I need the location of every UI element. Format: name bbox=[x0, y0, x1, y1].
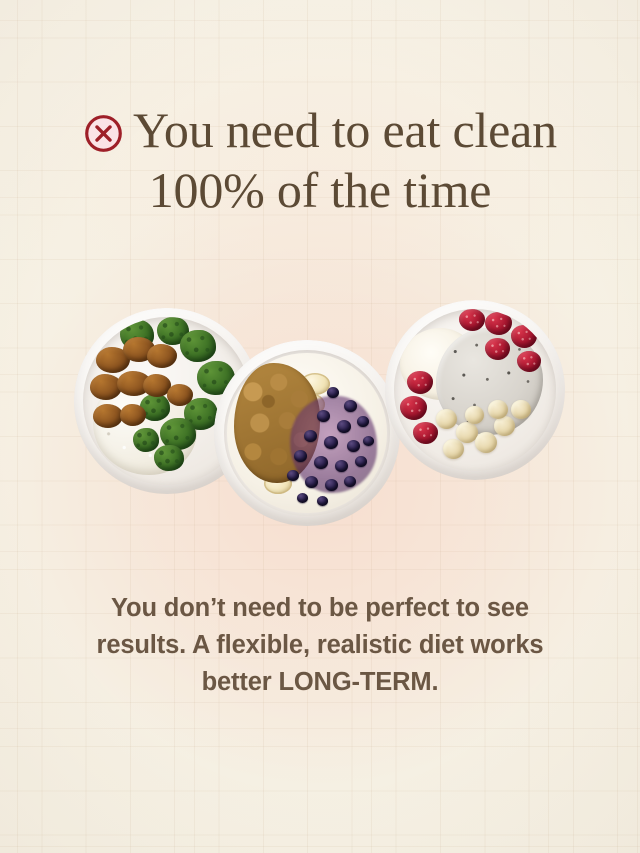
banana-slice bbox=[294, 393, 325, 416]
chicken-piece bbox=[120, 404, 146, 426]
blueberry bbox=[355, 456, 367, 467]
blueberry bbox=[327, 387, 339, 398]
chicken-piece bbox=[93, 404, 123, 428]
yogurt-base bbox=[227, 353, 386, 512]
bowl-interior bbox=[394, 309, 556, 471]
blueberry bbox=[363, 436, 374, 446]
broccoli-floret bbox=[184, 398, 218, 430]
broccoli-floret bbox=[180, 330, 216, 362]
chia-pudding bbox=[436, 328, 543, 435]
blueberry bbox=[344, 476, 356, 487]
body-copy-block: You don’t need to be perfect to see resu… bbox=[56, 590, 584, 701]
blueberry bbox=[305, 476, 318, 488]
macadamia-nut bbox=[511, 400, 531, 419]
strawberry bbox=[400, 396, 427, 420]
body-line-3: better LONG-TERM. bbox=[56, 664, 584, 701]
blueberry bbox=[297, 493, 308, 503]
headline-block: You need to eat clean 100% of the time bbox=[0, 100, 640, 220]
chicken-broccoli-rice-bowl bbox=[74, 308, 260, 494]
bowl-shadow bbox=[214, 340, 400, 526]
macadamia-nut bbox=[456, 422, 478, 443]
blueberry bbox=[324, 436, 338, 449]
broccoli-floret bbox=[120, 320, 154, 350]
strawberry bbox=[485, 312, 512, 335]
bowl-interior bbox=[224, 350, 390, 516]
bowl-rim bbox=[385, 300, 565, 480]
strawberry bbox=[485, 338, 510, 360]
strawberry bbox=[511, 325, 537, 348]
chicken-piece bbox=[96, 347, 130, 373]
headline-line-2: 100% of the time bbox=[0, 160, 640, 220]
headline-line-1-text: You need to eat clean bbox=[133, 102, 557, 158]
circle-x-icon bbox=[83, 107, 124, 148]
bowl-interior bbox=[83, 317, 251, 485]
blueberry bbox=[294, 450, 307, 462]
granola-cluster bbox=[234, 363, 320, 483]
blueberry bbox=[287, 470, 299, 481]
banana-slice bbox=[300, 373, 330, 395]
strawberry bbox=[413, 422, 438, 444]
macadamia-nut bbox=[436, 409, 457, 429]
bowl-rim bbox=[74, 308, 260, 494]
blueberry bbox=[314, 456, 328, 469]
chicken-piece bbox=[167, 384, 193, 406]
body-line-2: results. A flexible, realistic diet work… bbox=[56, 627, 584, 664]
banana-slice bbox=[267, 453, 298, 476]
macadamia-nut bbox=[465, 406, 484, 424]
chicken-piece bbox=[90, 374, 122, 400]
strawberry bbox=[407, 371, 433, 394]
broccoli-floret bbox=[133, 428, 159, 452]
white-rice bbox=[93, 377, 197, 474]
blueberry bbox=[304, 430, 317, 442]
poster-canvas: You need to eat clean 100% of the time Y… bbox=[0, 0, 640, 853]
bowl-rim bbox=[214, 340, 400, 526]
bowl-shadow bbox=[385, 300, 565, 480]
macadamia-nut bbox=[488, 400, 508, 419]
strawberry bbox=[459, 309, 485, 331]
blueberry bbox=[325, 479, 338, 491]
macadamia-nut bbox=[475, 432, 497, 453]
blueberry bbox=[347, 440, 360, 452]
headline-text: You need to eat clean 100% of the time bbox=[0, 100, 640, 220]
blueberry-sauce bbox=[290, 396, 376, 492]
headline-line-1: You need to eat clean bbox=[0, 100, 640, 160]
macadamia-nut bbox=[494, 416, 515, 436]
strawberry bbox=[517, 351, 541, 372]
chicken-piece bbox=[147, 344, 177, 368]
yogurt-base bbox=[400, 328, 478, 399]
broccoli-floret bbox=[160, 418, 196, 450]
bowl-shadow bbox=[74, 308, 260, 494]
blueberry bbox=[357, 416, 369, 427]
body-line-1: You don’t need to be perfect to see bbox=[56, 590, 584, 627]
chicken-piece bbox=[143, 374, 171, 397]
granola-banana-blueberry-bowl bbox=[214, 340, 400, 526]
blueberry bbox=[337, 420, 351, 433]
banana-slice bbox=[274, 433, 306, 457]
body-copy-text: You don’t need to be perfect to see resu… bbox=[56, 590, 584, 701]
banana-slice bbox=[264, 473, 292, 494]
blueberry bbox=[335, 460, 348, 472]
broccoli-floret bbox=[140, 394, 170, 421]
broccoli-floret bbox=[157, 317, 189, 345]
blueberry bbox=[344, 400, 357, 412]
blueberry bbox=[317, 410, 330, 422]
broccoli-floret bbox=[197, 361, 235, 395]
macadamia-nut bbox=[443, 439, 464, 459]
chicken-piece bbox=[117, 371, 151, 396]
chicken-piece bbox=[123, 337, 155, 362]
broccoli-floret bbox=[154, 445, 184, 471]
chia-berry-macadamia-bowl bbox=[385, 300, 565, 480]
banana-slice bbox=[284, 413, 316, 437]
blueberry bbox=[317, 496, 328, 506]
